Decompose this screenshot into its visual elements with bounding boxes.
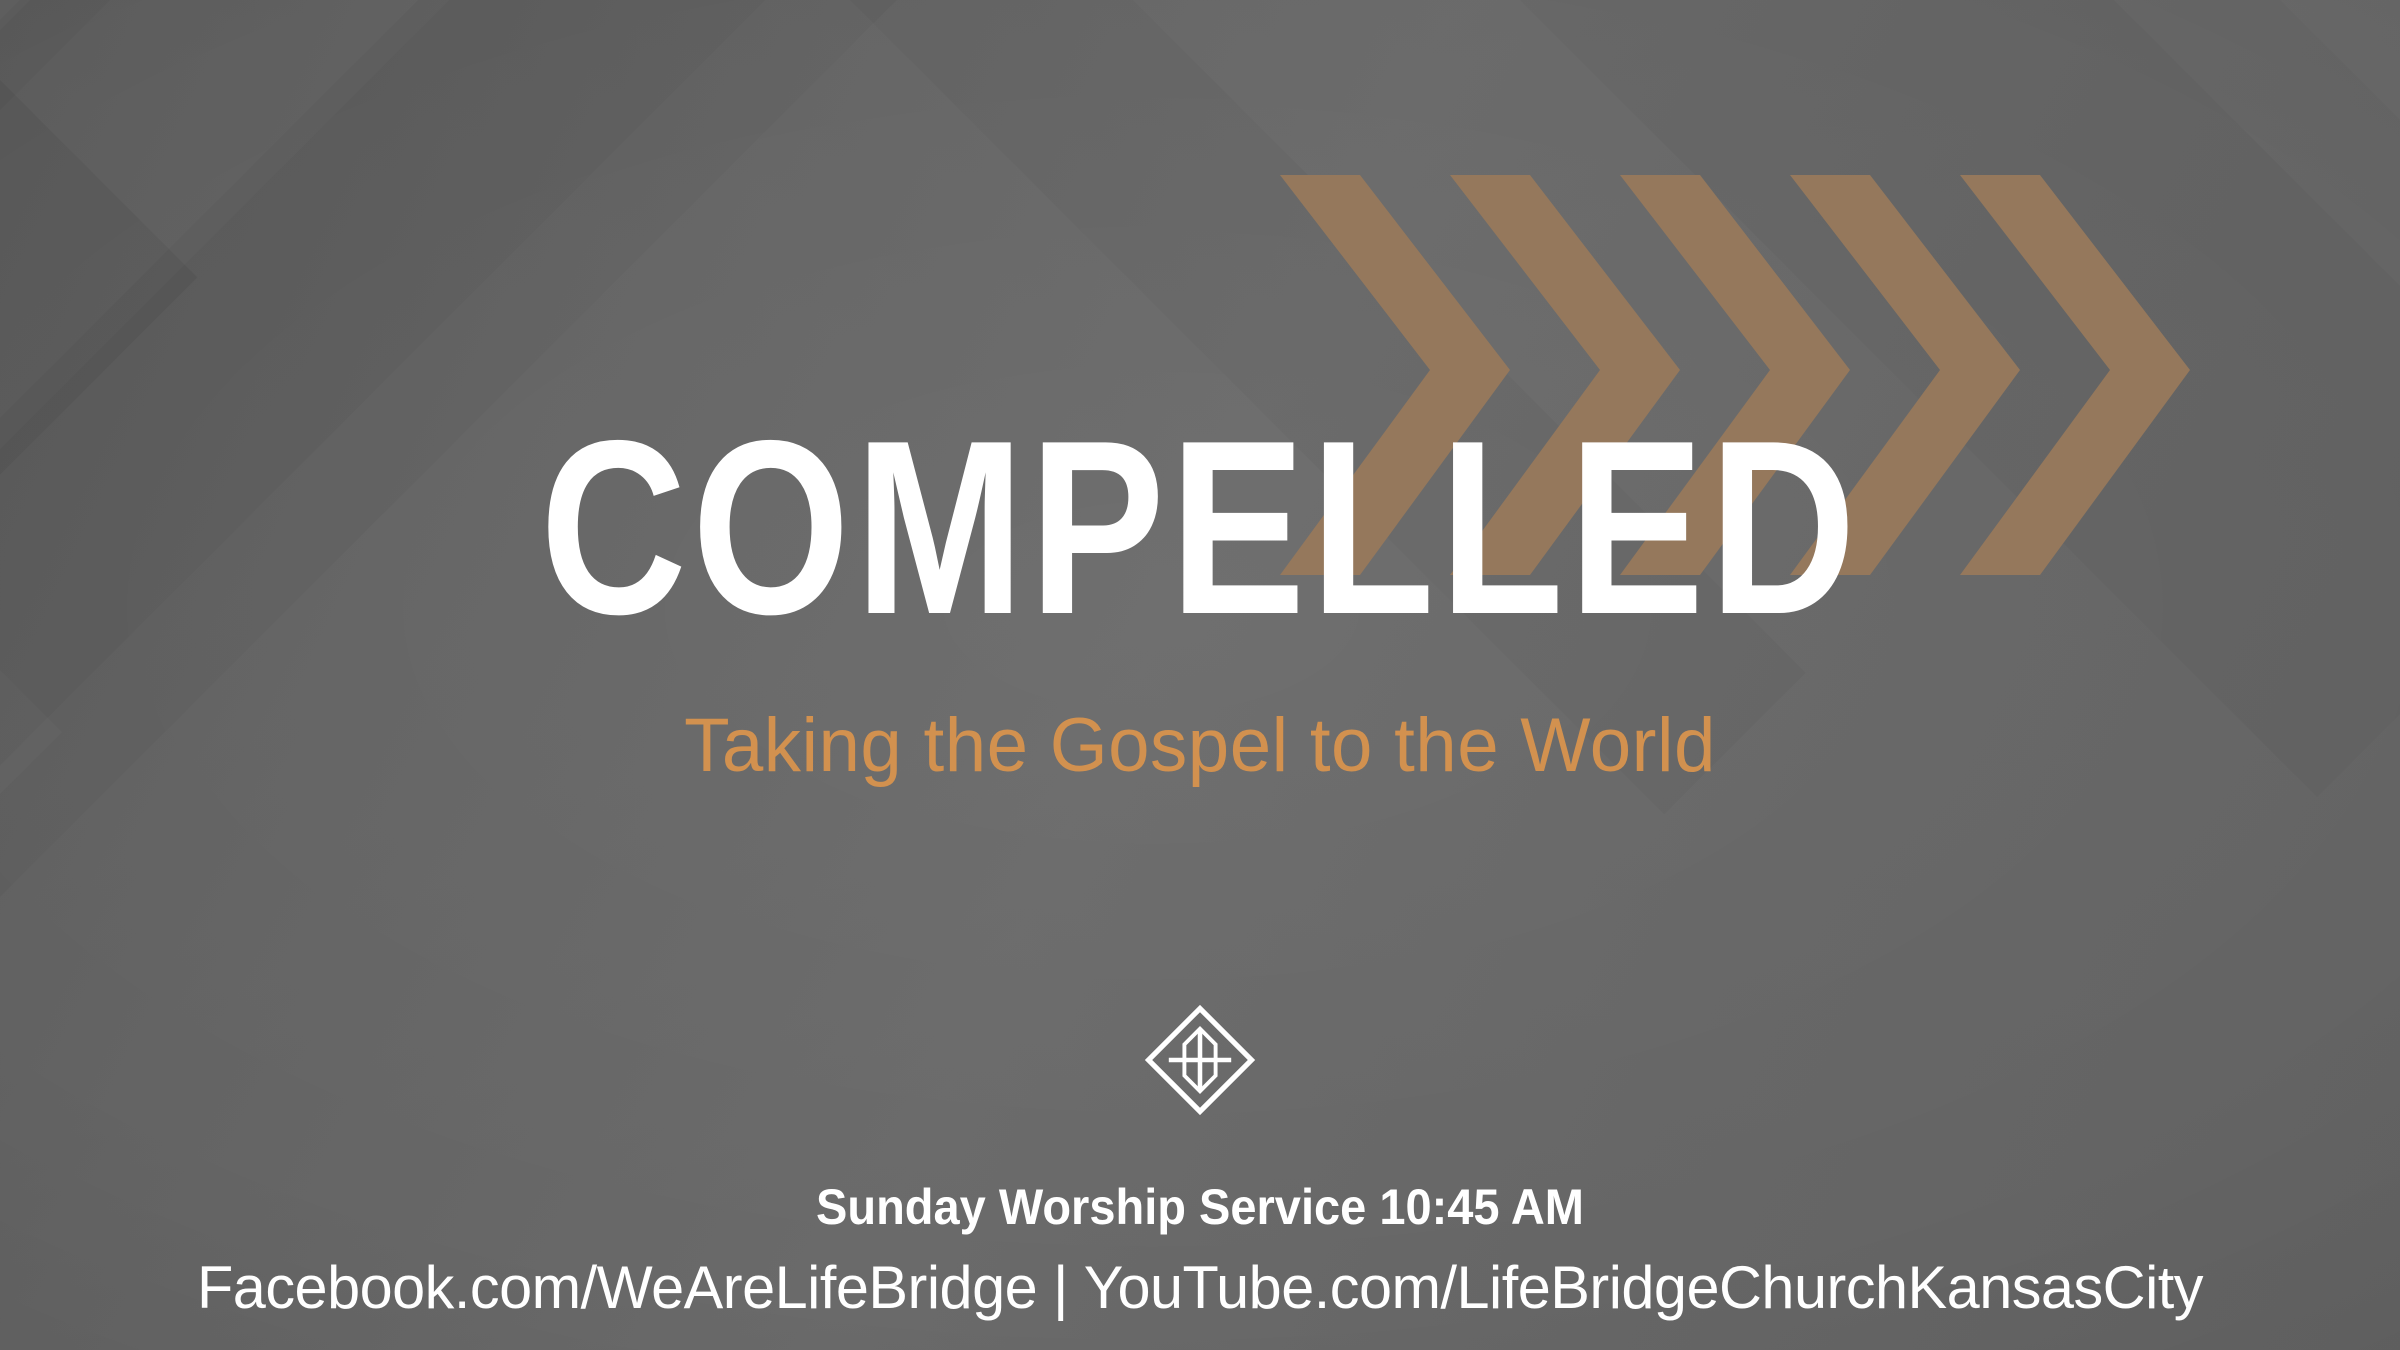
title-block: COMPELLED (0, 418, 2400, 636)
series-title: COMPELLED (540, 418, 1861, 636)
link-separator: | (1037, 1254, 1084, 1321)
sermon-title-slide: COMPELLED Taking the Gospel to the World… (0, 0, 2400, 1350)
service-time-text: Sunday Worship Service 10:45 AM (72, 1178, 2328, 1236)
social-links-row: Facebook.com/WeAreLifeBridge|YouTube.com… (12, 1253, 2388, 1322)
diamond-cross-logo-icon (1135, 995, 1265, 1125)
facebook-link[interactable]: Facebook.com/WeAreLifeBridge (197, 1254, 1037, 1321)
youtube-link[interactable]: YouTube.com/LifeBridgeChurchKansasCity (1084, 1254, 2203, 1321)
series-subtitle: Taking the Gospel to the World (24, 702, 2376, 789)
